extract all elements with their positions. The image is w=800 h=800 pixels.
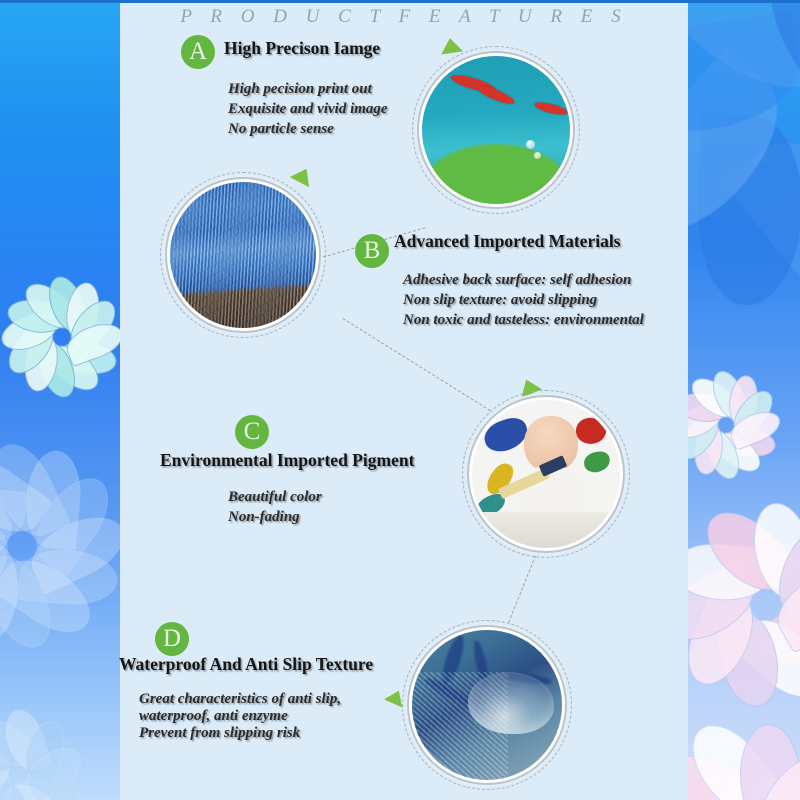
feature-line-a-2: Exquisite and vivid image <box>228 99 388 119</box>
photo-koi-fish <box>422 56 570 204</box>
photo-a-surface <box>422 56 570 204</box>
badge-letter-b: B <box>355 234 389 268</box>
arrow-marker-a <box>439 37 463 55</box>
water-bead <box>468 672 554 734</box>
feature-heading-d: Waterproof And Anti Slip Texture <box>119 654 373 675</box>
koi-fish-2 <box>476 83 517 107</box>
feature-line-d-3: Prevent from slipping risk <box>139 723 300 743</box>
fabric-rib-texture <box>170 182 316 328</box>
badge-letter-d: D <box>155 622 189 656</box>
water-droplet-1 <box>526 140 535 149</box>
photo-c-surface <box>472 400 620 548</box>
feature-line-c-1: Beautiful color <box>228 487 322 507</box>
feature-line-b-3: Non toxic and tasteless: environmental <box>403 310 644 330</box>
water-droplet-2 <box>534 152 541 159</box>
left-decorative-border <box>0 0 120 800</box>
paint-floor <box>472 512 620 548</box>
infographic-poster: P R O D U C T F E A T U R E S A High Pre… <box>0 0 800 800</box>
photo-d-surface <box>412 630 562 780</box>
photo-baby-painting <box>472 400 620 548</box>
feature-line-b-2: Non slip texture: avoid slipping <box>403 290 597 310</box>
page-title: P R O D U C T F E A T U R E S <box>118 6 690 28</box>
photo-water-droplet <box>412 630 562 780</box>
feature-line-c-2: Non-fading <box>228 507 300 527</box>
photo-b-surface <box>170 182 316 328</box>
koi-fish-3 <box>533 100 568 117</box>
top-accent-bar <box>0 0 800 3</box>
paint-splatter-green <box>582 450 611 474</box>
badge-letter-a: A <box>181 35 215 69</box>
feature-line-b-1: Adhesive back surface: self adhesion <box>403 270 631 290</box>
paint-splatter-red <box>574 415 609 447</box>
photo-blue-fabric <box>170 182 316 328</box>
feature-heading-c: Environmental Imported Pigment <box>160 450 414 471</box>
feature-line-a-3: No particle sense <box>228 119 334 139</box>
feature-line-a-1: High pecision print out <box>228 79 372 99</box>
badge-letter-c: C <box>235 415 269 449</box>
right-decorative-border <box>688 0 800 800</box>
feature-heading-a: High Precison Iamge <box>224 38 380 59</box>
feature-heading-b: Advanced Imported Materials <box>394 231 621 252</box>
